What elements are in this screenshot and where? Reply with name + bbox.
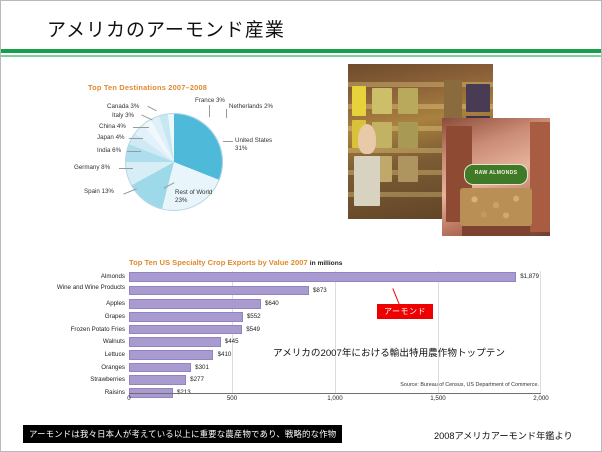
almond-nuts-window [460,188,532,226]
bar-chart-title-main: Top Ten US Specialty Crop Exports by Val… [129,258,308,267]
leader-line-india [127,151,141,152]
footer-attribution: 2008アメリカアーモンド年鑑より [434,428,573,442]
pie-label-netherlands: Netherlands 2% [229,103,273,111]
bar-apples [129,299,261,309]
bar-chart-title: Top Ten US Specialty Crop Exports by Val… [129,258,342,267]
bar-row: Frozen Potato Fries $549 [129,324,541,336]
bar-value-frozen-potato-fries: $549 [246,324,260,336]
bar-category-oranges: Oranges [37,362,129,374]
bar-wine [129,286,309,296]
leader-line-japan [129,138,143,139]
bar-row: Apples $640 [129,298,541,310]
bar-chart-plot-area: Almonds $1,879 Wine and Wine Products $8… [129,271,541,393]
bar-value-strawberries: $277 [190,374,204,386]
bar-category-almonds: Almonds [37,271,129,283]
bar-value-walnuts: $445 [225,336,239,348]
bar-row: Almonds $1,879 [129,271,541,283]
leader-line-netherlands [226,109,227,118]
xtick-0: 0 [127,395,130,402]
leader-line-china [133,127,149,128]
raw-almonds-badge-label: RAW ALMONDS [465,165,527,181]
bar-category-strawberries: Strawberries [37,374,129,386]
leader-line-canada [147,106,156,112]
pie-chart-title: Top Ten Destinations 2007–2008 [88,83,207,92]
pie-label-china: China 4% [99,123,126,131]
divider-thin-line [1,55,601,57]
pie-label-italy: Italy 3% [112,112,134,120]
xtick-500: 500 [227,395,237,402]
chart-annotation-text: アメリカの2007年における輸出特用農作物トップテン [273,345,505,359]
pie-label-rest-of-world: Rest of World 23% [175,189,212,205]
pie-label-rest-of-world-value: 23% [175,197,187,204]
presentation-slide: アメリカのアーモンド産業 Top Ten Destinations 2007–2… [0,0,602,452]
raw-almonds-badge: RAW ALMONDS [464,164,528,185]
title-divider [1,49,601,57]
raw-almonds-package-photo: RAW ALMONDS [442,118,550,236]
pie-chart: Top Ten Destinations 2007–2008 France 3%… [63,81,313,221]
bar-chart-subtitle: in millions [310,260,343,267]
pie-label-india: India 6% [97,147,121,155]
bar-value-oranges: $301 [195,362,209,374]
bar-category-grapes: Grapes [37,311,129,323]
bar-value-wine: $873 [313,284,327,298]
xtick-1500: 1,500 [430,395,445,402]
bar-walnuts [129,337,221,347]
pie-label-united-states: United States 31% [235,137,272,153]
bar-oranges [129,363,191,373]
pie-label-germany: Germany 8% [74,164,110,172]
bar-value-grapes: $552 [247,311,261,323]
pie-label-france: France 3% [195,97,225,105]
bar-frozen-potato-fries [129,325,242,335]
pie-label-united-states-text: United States [235,137,272,144]
bar-value-apples: $640 [265,298,279,310]
bar-category-walnuts: Walnuts [37,336,129,348]
bar-category-frozen-potato-fries: Frozen Potato Fries [37,324,129,336]
almond-callout-badge: アーモンド [377,304,433,319]
bar-row: Wine and Wine Products $873 [129,284,541,298]
bar-almonds [129,272,516,282]
xtick-1000: 1,000 [327,395,342,402]
bar-grapes [129,312,243,322]
footer-caption: アーモンドは我々日本人が考えている以上に重要な農産物であり、戦略的な作物 [23,425,342,443]
pie-label-united-states-value: 31% [235,145,247,152]
leader-line-united-states [223,141,233,142]
leader-line-germany [119,168,133,169]
bar-category-wine: Wine and Wine Products [37,284,129,291]
bar-lettuce [129,350,213,360]
xtick-2000: 2,000 [533,395,548,402]
bar-strawberries [129,375,186,385]
leader-line-france [209,105,210,117]
pie-label-japan: Japan 4% [97,134,125,142]
bar-category-lettuce: Lettuce [37,349,129,361]
bar-category-apples: Apples [37,298,129,310]
pie-label-rest-of-world-text: Rest of World [175,189,212,196]
pie-label-canada: Canada 3% [107,103,139,111]
chart-source-note: Source: Bureau of Census, US Department … [400,382,539,388]
bar-chart: Top Ten US Specialty Crop Exports by Val… [63,256,541,411]
page-title: アメリカのアーモンド産業 [47,15,285,42]
bar-row: Oranges $301 [129,362,541,374]
pie-label-spain: Spain 13% [84,188,114,196]
bar-chart-x-axis: 0 500 1,000 1,500 2,000 [129,393,541,408]
bar-category-raisins: Raisins [37,387,129,399]
bar-value-almonds: $1,879 [520,271,539,283]
bar-row: Grapes $552 [129,311,541,323]
bar-value-lettuce: $410 [218,349,232,361]
